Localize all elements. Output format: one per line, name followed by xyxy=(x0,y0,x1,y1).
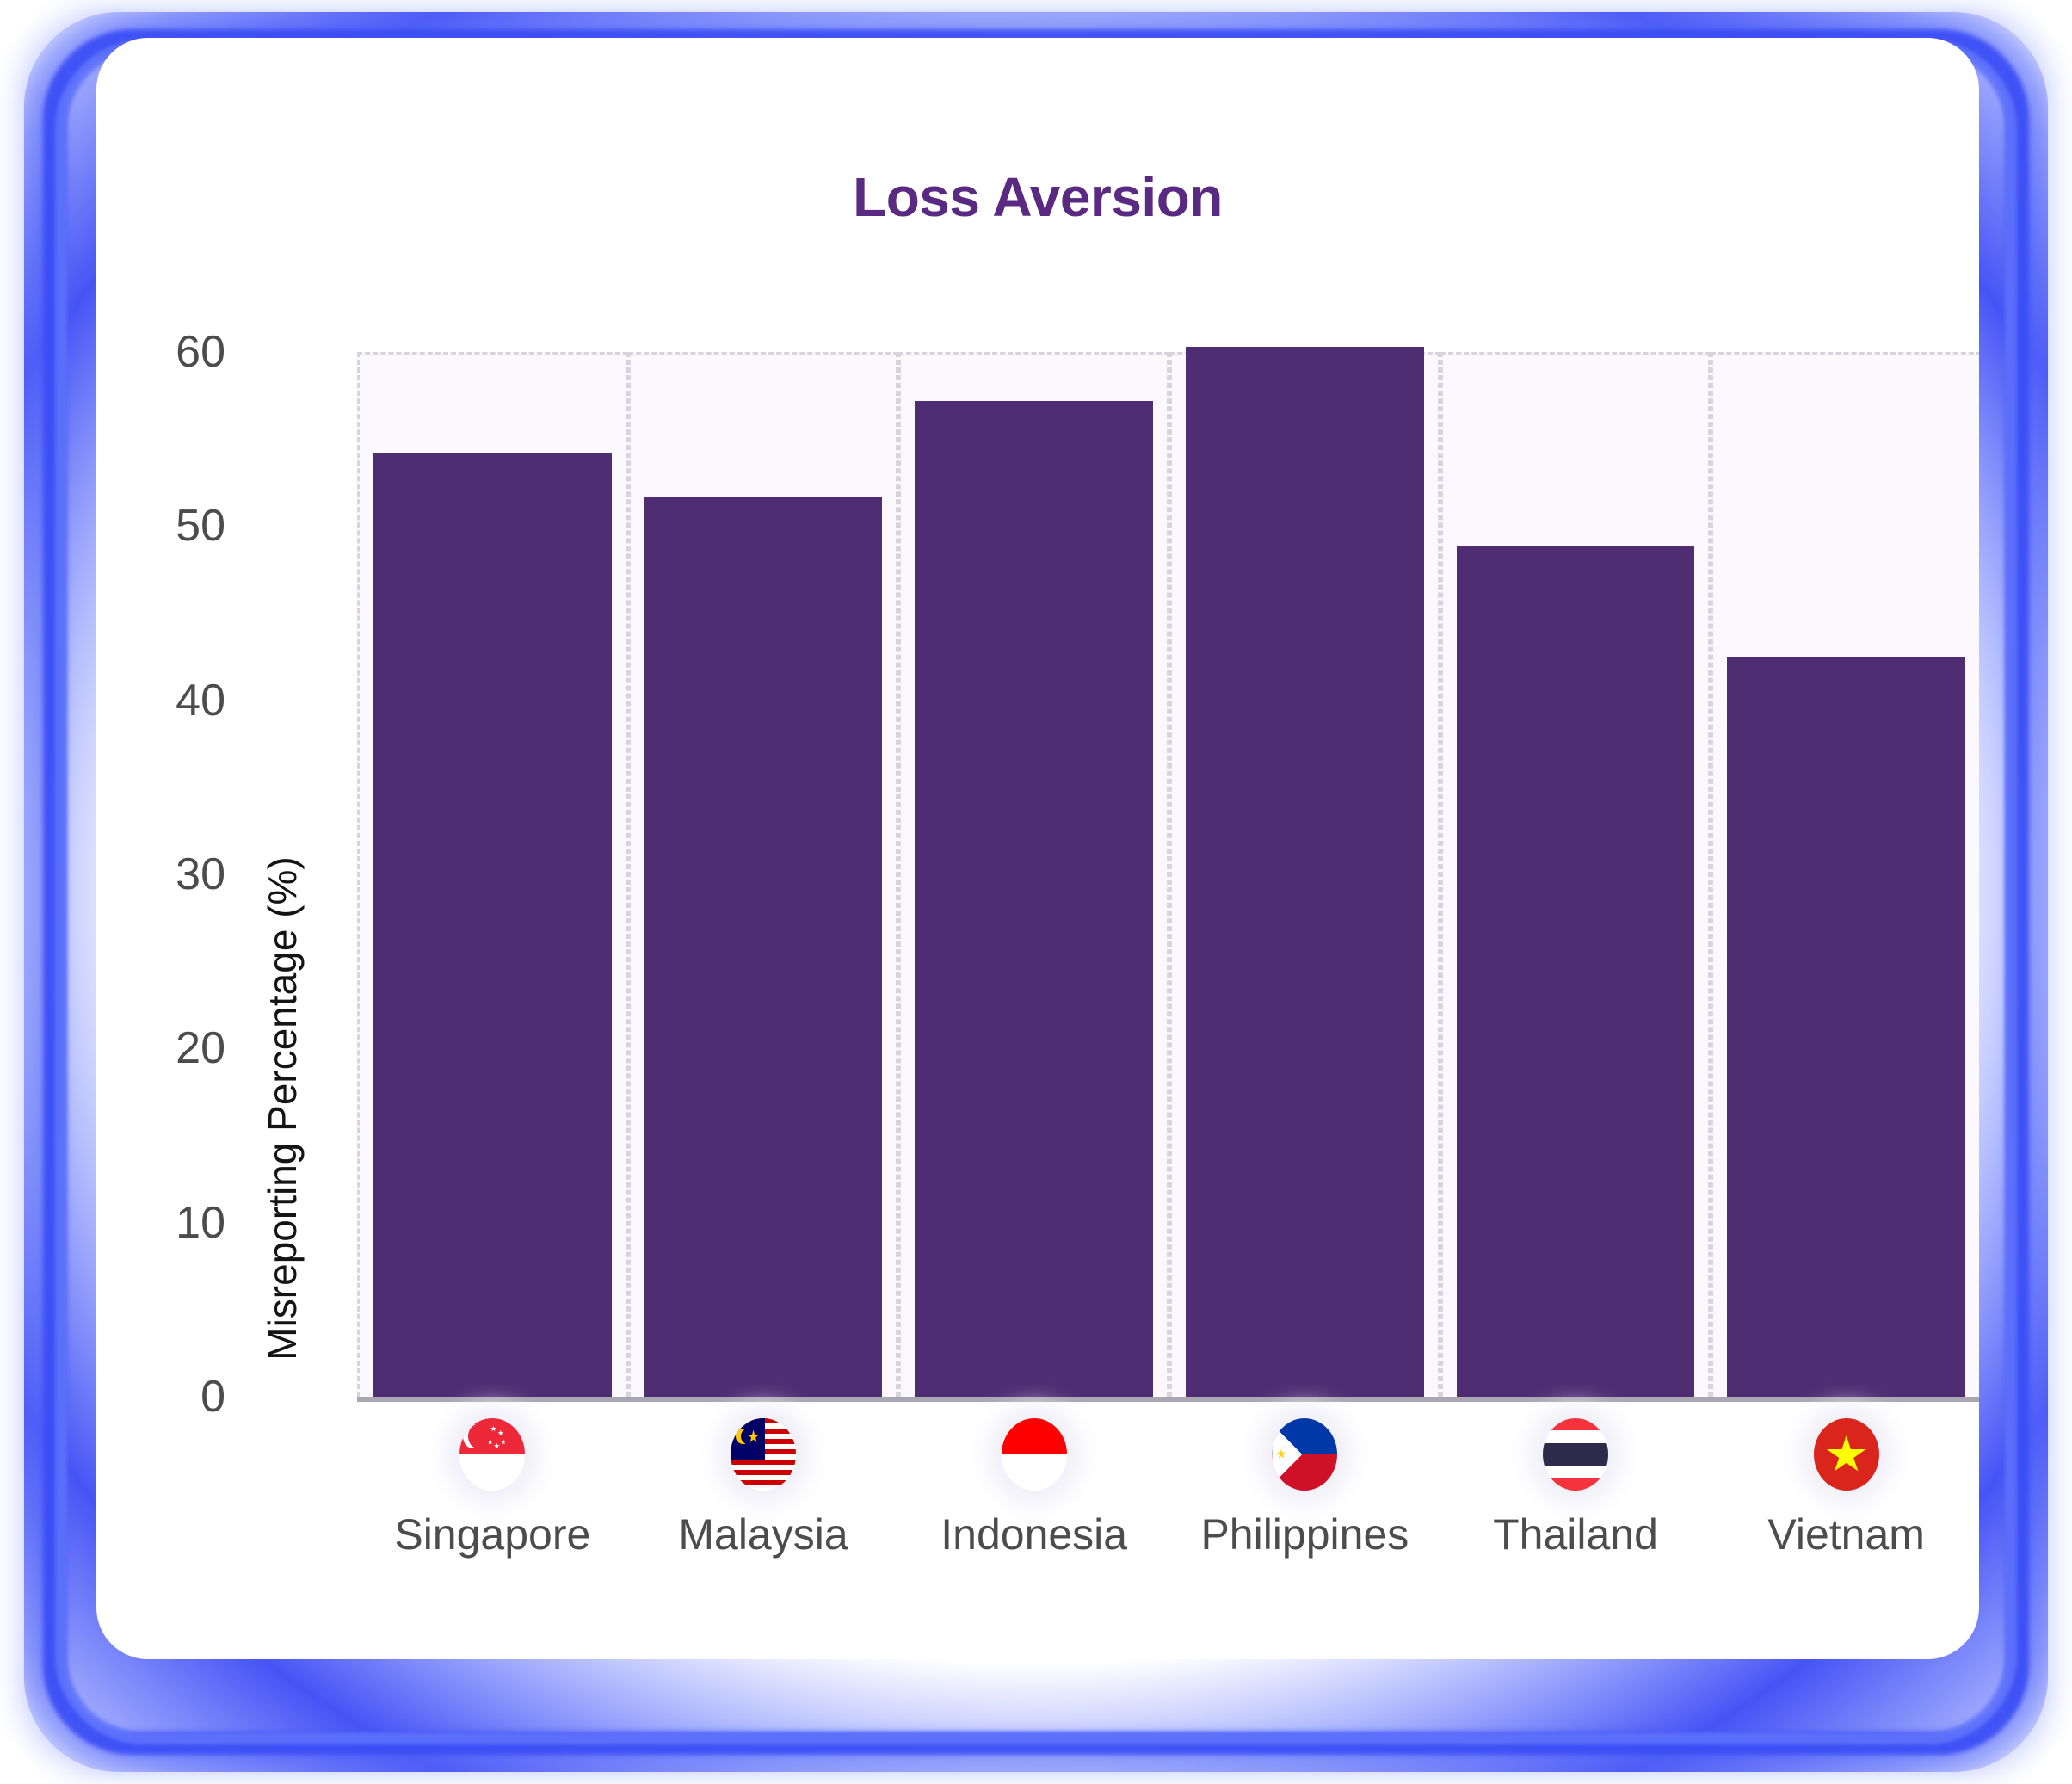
indonesia-flag-icon xyxy=(1002,1418,1067,1491)
x-axis-categories: SingaporeMalaysiaIndonesiaPhilippinesTha… xyxy=(357,1408,1979,1559)
y-tick-label: 50 xyxy=(176,500,225,552)
bar-slot xyxy=(1711,352,1979,1397)
flag-wrapper xyxy=(988,1408,1081,1501)
philippines-flag-icon xyxy=(1272,1418,1337,1491)
bar-philippines[interactable] xyxy=(1186,347,1424,1397)
x-category-philippines: Philippines xyxy=(1169,1408,1440,1559)
bar-slot xyxy=(898,352,1169,1397)
page-title: Loss Aversion xyxy=(96,165,1979,229)
x-tick-label: Singapore xyxy=(394,1509,590,1559)
x-category-malaysia: Malaysia xyxy=(628,1408,899,1559)
flag-wrapper xyxy=(1529,1408,1622,1501)
bar-slot xyxy=(357,352,628,1397)
bar-slot xyxy=(1169,352,1440,1397)
bar-thailand[interactable] xyxy=(1457,546,1695,1397)
x-tick-label: Philippines xyxy=(1200,1509,1409,1559)
bar-slot xyxy=(1440,352,1711,1397)
singapore-flag-icon xyxy=(459,1418,525,1491)
x-category-indonesia: Indonesia xyxy=(898,1408,1169,1559)
x-tick-label: Vietnam xyxy=(1767,1509,1925,1559)
y-tick-label: 30 xyxy=(176,849,225,900)
bar-singapore[interactable] xyxy=(373,453,612,1397)
y-tick-label: 20 xyxy=(176,1022,225,1074)
bar-vietnam[interactable] xyxy=(1727,657,1965,1397)
y-axis-ticks: 6050403020100 Misreporting Percentage (%… xyxy=(225,352,329,1397)
y-axis-label: Misreporting Percentage (%) xyxy=(259,842,305,1375)
x-category-singapore: Singapore xyxy=(357,1408,628,1559)
bar-series xyxy=(357,352,1979,1397)
bar-slot xyxy=(628,352,899,1397)
chart-card: Loss Aversion 6050403020100 Misreporting… xyxy=(96,38,1979,1659)
y-tick-label: 60 xyxy=(176,326,225,378)
flag-wrapper xyxy=(717,1408,810,1501)
y-tick-label: 0 xyxy=(200,1371,225,1423)
x-category-vietnam: Vietnam xyxy=(1711,1408,1979,1559)
x-tick-label: Thailand xyxy=(1493,1509,1658,1559)
flag-wrapper xyxy=(446,1408,539,1501)
x-tick-label: Indonesia xyxy=(940,1509,1127,1559)
y-tick-label: 40 xyxy=(176,675,225,726)
malaysia-flag-icon xyxy=(731,1418,796,1491)
x-tick-label: Malaysia xyxy=(678,1509,848,1559)
bar-indonesia[interactable] xyxy=(915,401,1153,1397)
vietnam-flag-icon xyxy=(1814,1418,1879,1491)
flag-wrapper xyxy=(1800,1408,1893,1501)
x-category-thailand: Thailand xyxy=(1440,1408,1711,1559)
y-tick-label: 10 xyxy=(176,1197,225,1249)
bar-malaysia[interactable] xyxy=(644,497,883,1397)
flag-wrapper xyxy=(1258,1408,1351,1501)
plot-area xyxy=(357,352,1979,1397)
x-axis-line xyxy=(357,1397,1979,1402)
thailand-flag-icon xyxy=(1543,1418,1608,1491)
